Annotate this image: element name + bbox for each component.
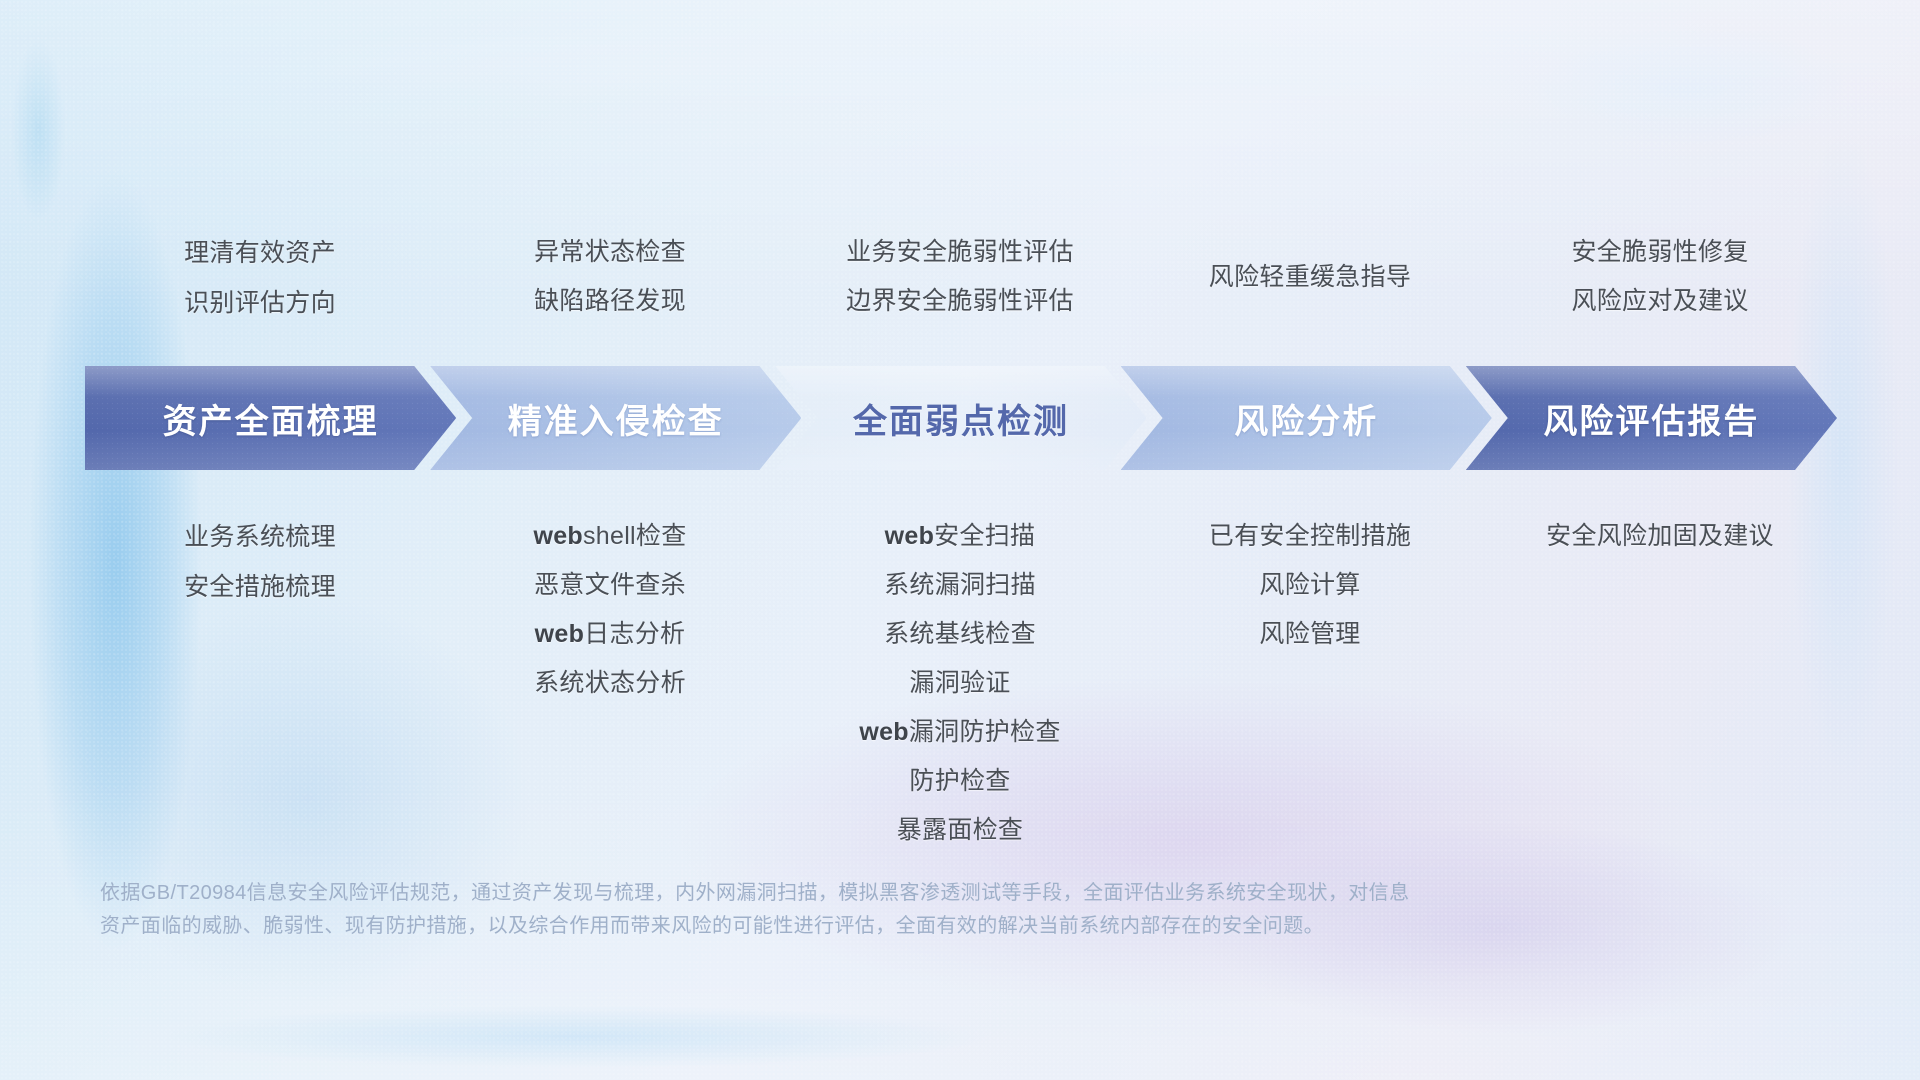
top-item: 理清有效资产 [184,228,336,278]
footer-line-2: 资产面临的威胁、脆弱性、现有防护措施，以及综合作用而带来风险的可能性进行评估，全… [100,910,1620,943]
bottom-item: 暴露面检查 [897,806,1024,855]
top-item: 识别评估方向 [184,278,336,328]
top-items-stage-2: 异常状态检查 缺陷路径发现 [435,228,785,328]
footer-line-1: 依据GB/T20984信息安全风险评估规范，通过资产发现与梳理，内外网漏洞扫描，… [100,877,1620,910]
top-item: 缺陷路径发现 [534,277,686,326]
chevron-stage-4-label: 风险分析 [1234,394,1378,443]
bottom-item: 安全风险加固及建议 [1546,512,1774,561]
process-chevron-band: 资产全面梳理 精准入侵检查 全面弱点检测 [85,366,1837,470]
chevron-stage-1[interactable]: 资产全面梳理 [85,366,456,470]
chevron-stage-2[interactable]: 精准入侵检查 [430,366,801,470]
bottom-item-emphasis: web [885,522,935,550]
chevron-stage-2-label: 精准入侵检查 [508,394,724,443]
chevron-stage-4[interactable]: 风险分析 [1121,366,1492,470]
chevron-stage-3[interactable]: 全面弱点检测 [775,366,1146,470]
bottom-item-emphasis: web [535,620,585,648]
bottom-item: 系统基线检查 [884,610,1036,659]
footer-description: 依据GB/T20984信息安全风险评估规范，通过资产发现与梳理，内外网漏洞扫描，… [100,877,1620,943]
chevron-stage-5[interactable]: 风险评估报告 [1466,366,1837,470]
top-items-stage-4: 风险轻重缓急指导 [1135,228,1485,328]
bottom-item: 系统漏洞扫描 [884,561,1036,610]
top-item: 风险应对及建议 [1571,277,1748,326]
top-items-stage-5: 安全脆弱性修复 风险应对及建议 [1485,228,1835,328]
top-items-row: 理清有效资产 识别评估方向 异常状态检查 缺陷路径发现 业务安全脆弱性评估 边界… [85,228,1835,328]
top-item: 风险轻重缓急指导 [1209,253,1411,302]
bottom-item: 安全措施梳理 [184,562,336,612]
bottom-items-stage-3: web安全扫描 系统漏洞扫描 系统基线检查 漏洞验证 web漏洞防护检查 防护检… [785,512,1135,855]
bottom-item: 漏洞验证 [909,659,1010,708]
bottom-item: 风险计算 [1259,561,1360,610]
chevron-stage-3-label: 全面弱点检测 [853,394,1069,443]
bottom-items-stage-1: 业务系统梳理 安全措施梳理 [85,512,435,855]
bottom-item: 风险管理 [1259,610,1360,659]
bottom-item: 业务系统梳理 [184,512,336,562]
bottom-items-stage-2: webshell检查 恶意文件查杀 web日志分析 系统状态分析 [435,512,785,855]
bottom-item: 恶意文件查杀 [534,561,686,610]
bottom-item: 防护检查 [909,757,1010,806]
bottom-item-emphasis: web [859,718,909,746]
bottom-item: web日志分析 [535,610,686,659]
top-item: 异常状态检查 [534,228,686,277]
bottom-items-stage-4: 已有安全控制措施 风险计算 风险管理 [1135,512,1485,855]
bottom-items-stage-5: 安全风险加固及建议 [1485,512,1835,855]
bottom-items-row: 业务系统梳理 安全措施梳理 webshell检查 恶意文件查杀 web日志分析 … [85,512,1835,855]
bottom-item: web漏洞防护检查 [859,708,1060,757]
slide-content: 理清有效资产 识别评估方向 异常状态检查 缺陷路径发现 业务安全脆弱性评估 边界… [0,0,1920,1080]
chevron-stage-5-label: 风险评估报告 [1543,394,1759,443]
bottom-item: 系统状态分析 [534,659,686,708]
top-items-stage-3: 业务安全脆弱性评估 边界安全脆弱性评估 [785,228,1135,328]
top-item: 安全脆弱性修复 [1571,228,1748,277]
top-items-stage-1: 理清有效资产 识别评估方向 [85,228,435,328]
bottom-item: web安全扫描 [885,512,1036,561]
chevron-stage-1-label: 资产全面梳理 [163,394,379,443]
bottom-item: 已有安全控制措施 [1209,512,1411,561]
top-item: 业务安全脆弱性评估 [846,228,1074,277]
bottom-item-emphasis: web [533,522,583,550]
slide-canvas: 理清有效资产 识别评估方向 异常状态检查 缺陷路径发现 业务安全脆弱性评估 边界… [0,0,1920,1080]
bottom-item: webshell检查 [533,512,686,561]
top-item: 边界安全脆弱性评估 [846,277,1074,326]
